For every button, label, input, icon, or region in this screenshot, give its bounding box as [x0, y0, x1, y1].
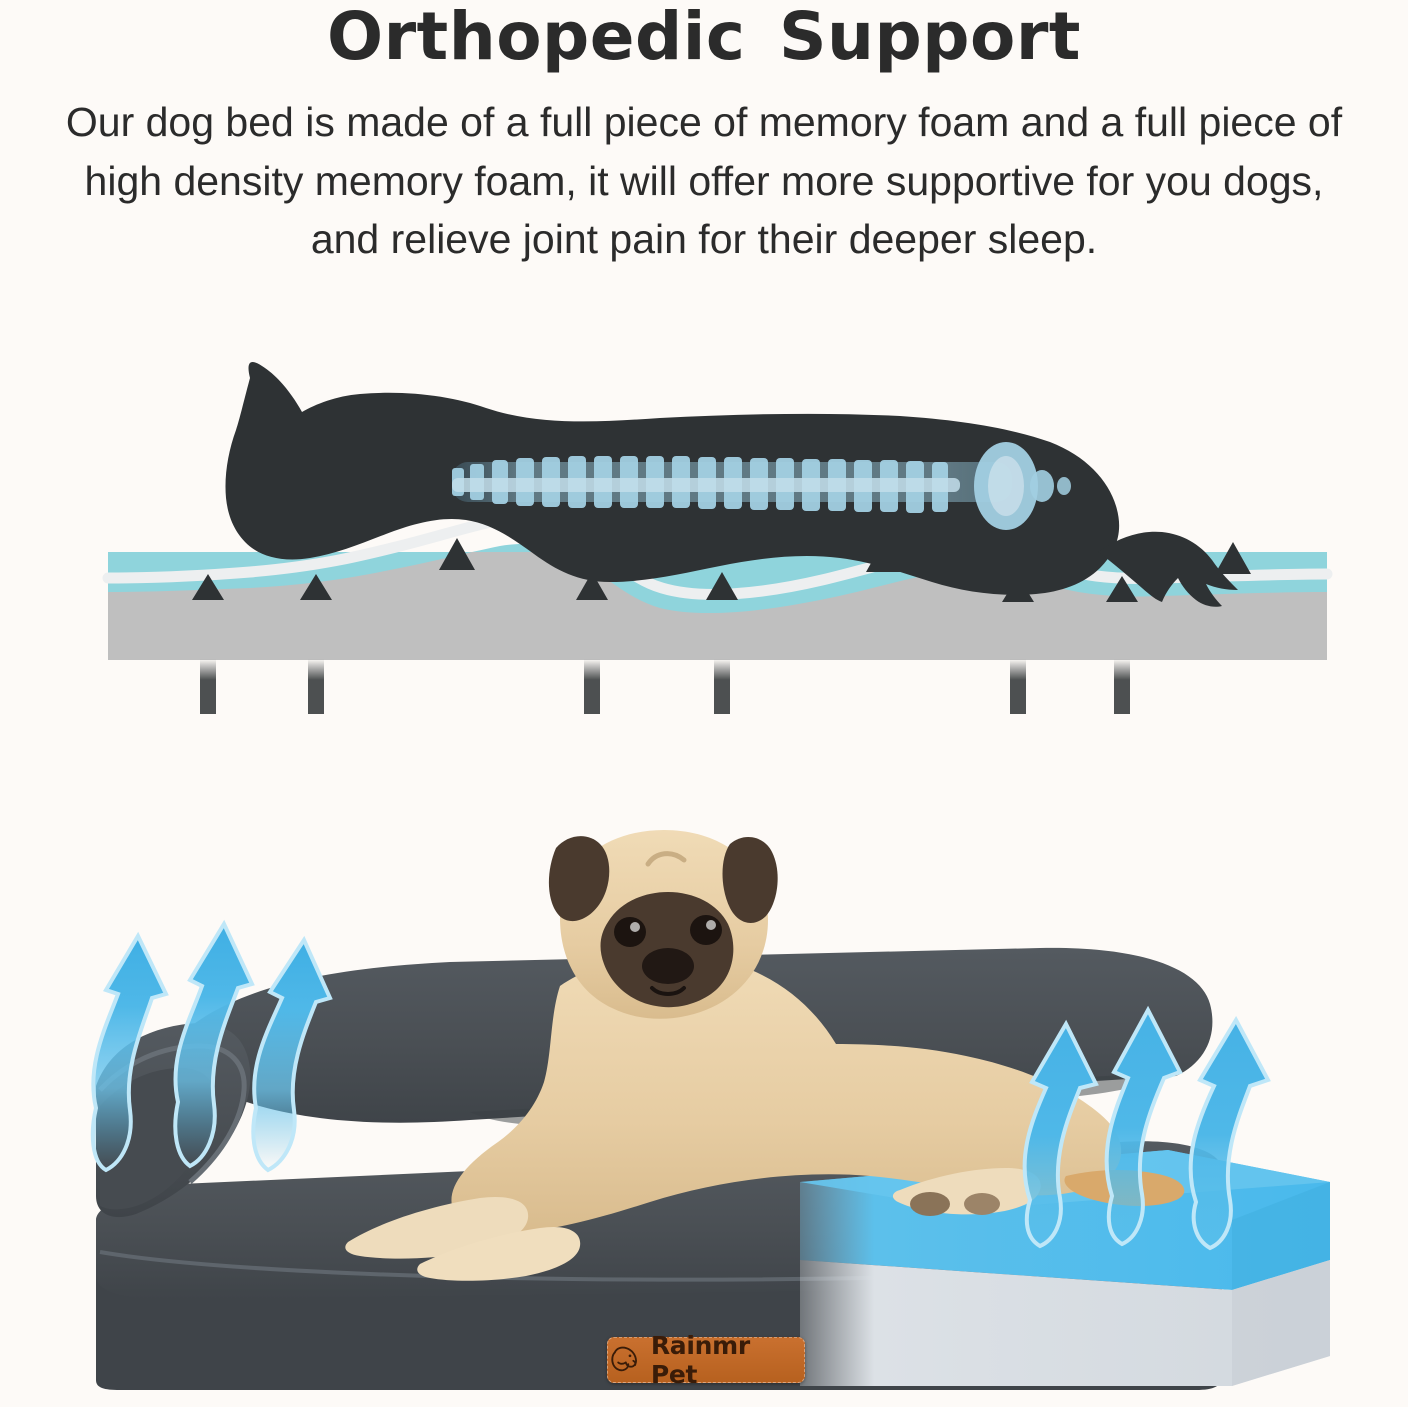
dog-head-icon — [608, 1344, 642, 1376]
airflow-arrows-left — [93, 924, 330, 1170]
product-feature-page: Orthopedic Support Our dog bed is made o… — [0, 0, 1408, 1407]
dog-eye-right — [690, 915, 722, 945]
orthopedic-support-diagram — [0, 300, 1408, 730]
cross-section-illustration — [0, 300, 1408, 730]
dog-paw-pad — [964, 1193, 1000, 1215]
header: Orthopedic Support Our dog bed is made o… — [0, 0, 1408, 268]
support-arrow-tails — [200, 659, 1130, 714]
description-text: Our dog bed is made of a full piece of m… — [0, 93, 1408, 268]
dog-paw-pad — [910, 1192, 950, 1216]
page-title: Orthopedic Support — [0, 0, 1408, 71]
description-line-1: Our dog bed is made of a full piece of m… — [14, 93, 1394, 151]
description-line-3: and relieve joint pain for their deeper … — [14, 210, 1394, 268]
brand-name: Rainmr Pet — [651, 1331, 804, 1389]
description-line-2: high density memory foam, it will offer … — [14, 152, 1394, 210]
product-photo-section — [0, 790, 1408, 1407]
dog-nose — [642, 948, 694, 984]
pug-on-bed-illustration — [0, 790, 1408, 1407]
brand-label-patch: Rainmr Pet — [607, 1337, 805, 1383]
dog-eye-left — [614, 917, 646, 947]
